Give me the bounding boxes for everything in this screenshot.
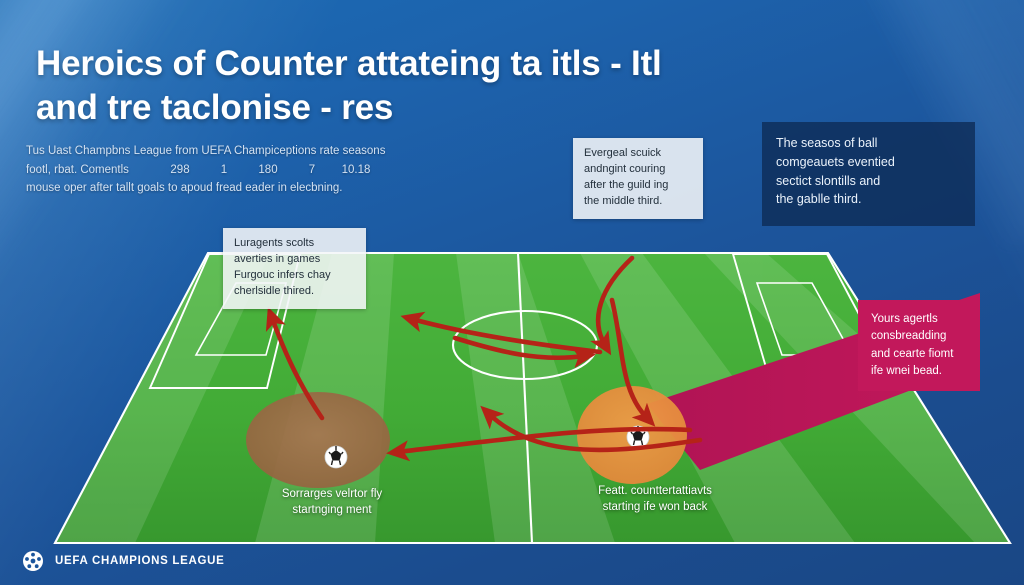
footer-brand: UEFA CHAMPIONS LEAGUE <box>22 550 225 572</box>
uefa-starball-logo <box>22 550 44 572</box>
footer-bar: UEFA CHAMPIONS LEAGUE <box>0 543 1024 585</box>
stats-value: 180 <box>246 161 290 180</box>
callout-possession: The seasos of ball comgeauets eventied s… <box>762 122 975 226</box>
stats-value: 1 <box>202 161 246 180</box>
callout-wedge-note: Yours agertls consbreadding and cearte f… <box>858 300 980 391</box>
stats-label: footl, rbat. Comentls <box>26 161 158 180</box>
stats-value: 7 <box>290 161 334 180</box>
infographic-canvas: Heroics of Counter attateing ta itls - I… <box>0 0 1024 585</box>
zone-label-counter: Featt. counttertattiavts starting ife wo… <box>545 483 765 515</box>
subtitle-stats-row: footl, rbat. Comentls 298 1 180 7 10.18 <box>26 161 496 180</box>
stats-value: 10.18 <box>334 161 378 180</box>
subtitle-line-1: Tus Uast Champbns League from UEFA Champ… <box>26 142 496 161</box>
stats-value: 298 <box>158 161 202 180</box>
zone-label-recovery: Sorrarges velrtor fly startnging ment <box>222 486 442 518</box>
page-title: Heroics of Counter attateing ta itls - I… <box>36 42 916 131</box>
footer-brand-text: UEFA CHAMPIONS LEAGUE <box>55 555 225 567</box>
callout-left-wing: Luragents scolts averties in games Furgo… <box>223 228 366 309</box>
callout-middle-third: Evergeal scuick andngint couring after t… <box>573 138 703 219</box>
zone-marker-recovery <box>246 392 390 488</box>
subtitle-block: Tus Uast Champbns League from UEFA Champ… <box>26 142 496 198</box>
subtitle-line-3: mouse oper after tallt goals to apoud fr… <box>26 179 496 198</box>
football-icon-left <box>325 446 347 468</box>
